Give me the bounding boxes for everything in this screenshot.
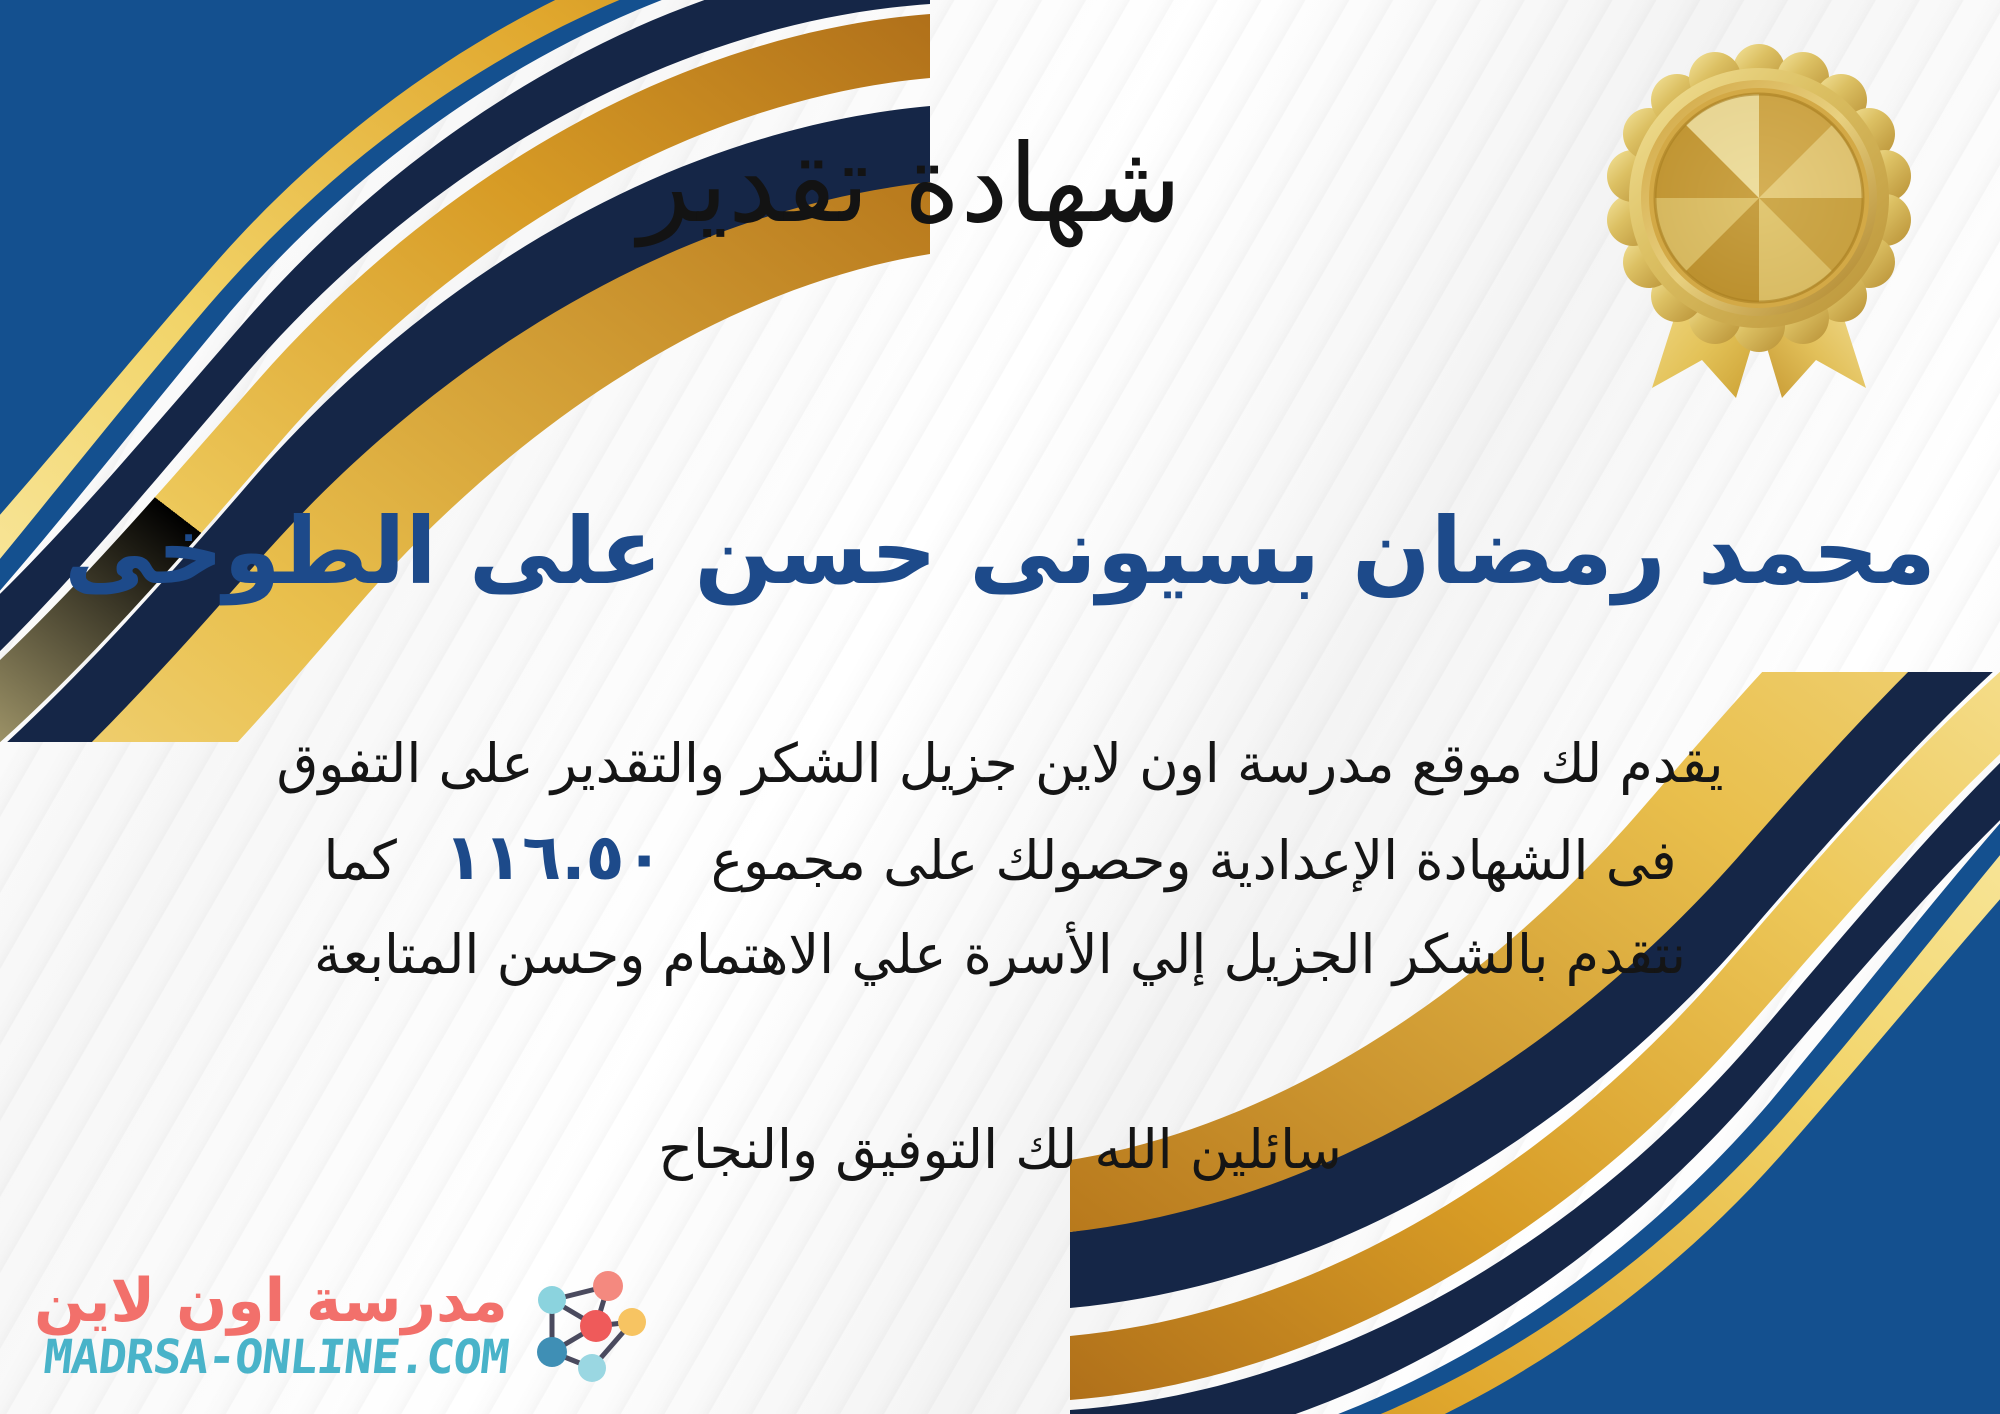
- page-title: شهادة تقدير: [0, 128, 2000, 241]
- network-nodes-icon: [522, 1260, 654, 1392]
- certificate-canvas: شهادة تقدير محمد رمضان بسيونى حسن على ال…: [0, 0, 2000, 1414]
- recipient-name: محمد رمضان بسيونى حسن على الطوخى: [0, 500, 2000, 603]
- brand-website-url: MADRSA-ONLINE.COM: [41, 1333, 510, 1382]
- brand-wordmark: مدرسة اون لاين MADRSA-ONLINE.COM: [34, 1270, 508, 1382]
- body-line-1: يقدم لك موقع مدرسة اون لاين جزيل الشكر و…: [110, 720, 1890, 807]
- body-line-3: نتقدم بالشكر الجزيل إلي الأسرة علي الاهت…: [110, 911, 1890, 998]
- body-line-2-suffix: كما: [323, 829, 396, 892]
- certificate-body-text: يقدم لك موقع مدرسة اون لاين جزيل الشكر و…: [110, 720, 1890, 999]
- closing-wish: سائلين الله لك التوفيق والنجاح: [0, 1112, 2000, 1188]
- total-score-value: ١١٦.٥٠: [414, 807, 694, 911]
- body-line-2-prefix: فى الشهادة الإعدادية وحصولك على مجموع: [711, 829, 1677, 892]
- body-line-2: فى الشهادة الإعدادية وحصولك على مجموع ١١…: [110, 807, 1890, 911]
- brand-logo[interactable]: مدرسة اون لاين MADRSA-ONLINE.COM: [34, 1260, 654, 1392]
- brand-name-arabic: مدرسة اون لاين: [34, 1270, 508, 1333]
